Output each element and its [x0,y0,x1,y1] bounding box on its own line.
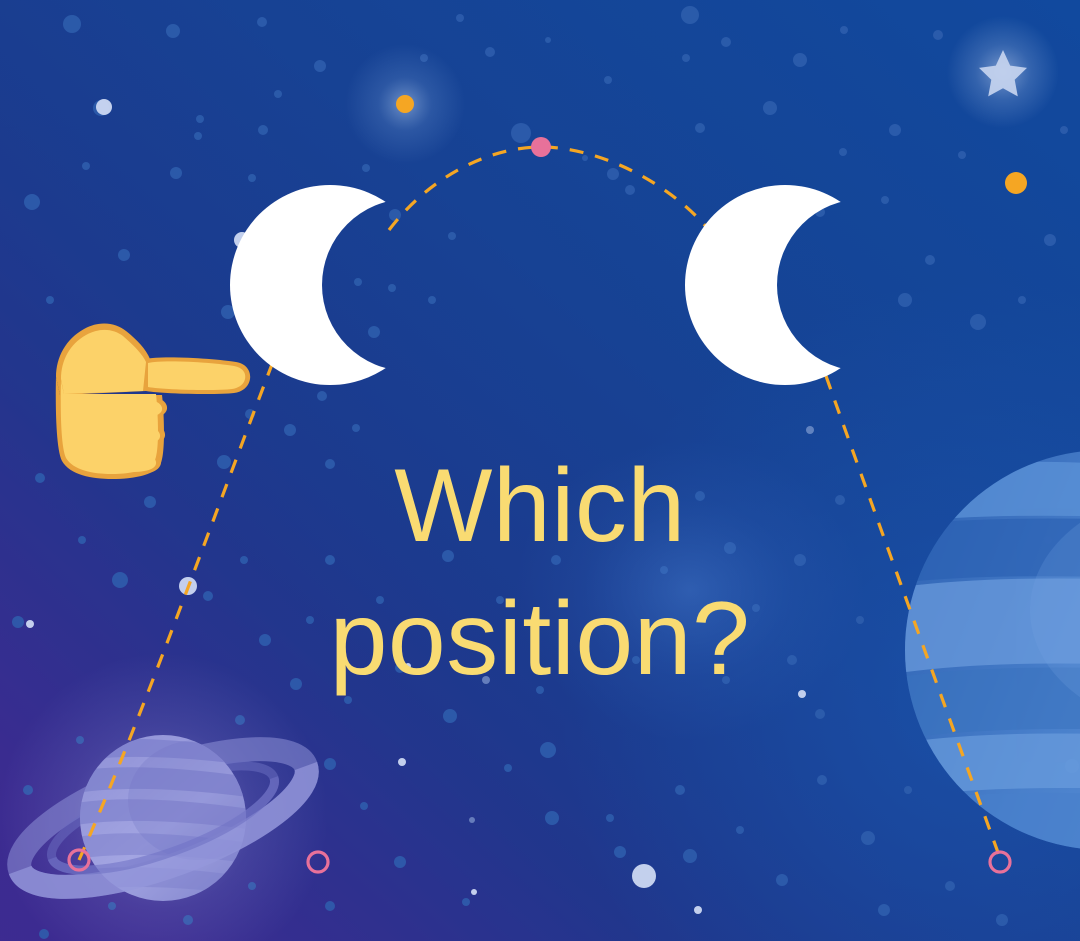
hand-fill [61,330,245,474]
crescent-moon-right [675,175,895,395]
pink-dot-apex[interactable] [531,137,551,157]
space-illustration-canvas: Which position? [0,0,1080,941]
orange-dot-glow-top-left [396,95,414,113]
center-text-glow [515,440,865,740]
orange-dot-right [1005,172,1027,194]
pointing-hand-icon [50,315,255,480]
